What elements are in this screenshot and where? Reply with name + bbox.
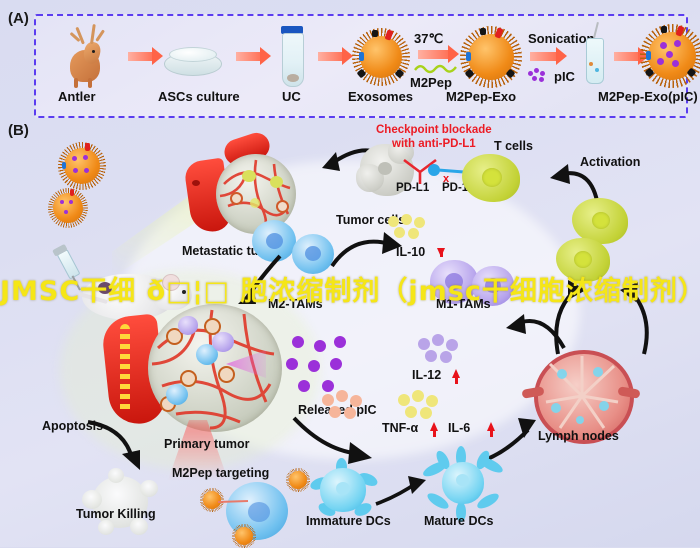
- il-6-cytokine-cluster: [398, 390, 442, 420]
- label-immature-dcs: Immature DCs: [306, 515, 391, 528]
- label-tnf-alpha: TNF-α: [382, 422, 418, 435]
- m2-tam-cell-2: [292, 234, 334, 274]
- t-cell-engaged: [462, 154, 520, 202]
- m2pep-exosome-particle: [460, 26, 522, 88]
- arrow-antler-to-ascs: [128, 52, 154, 61]
- label-m1-tams: M1-TAMs: [436, 298, 491, 311]
- antler-deer-illustration: [54, 24, 124, 86]
- panel-a-container: Antler ASCs culture UC Exosomes: [34, 14, 688, 118]
- lymph-node-internal-icon: [534, 350, 630, 440]
- arrow-m2pep-exo-to-sonication: [530, 52, 558, 61]
- label-il-12: IL-12: [412, 369, 441, 382]
- label-t-cells: T cells: [494, 140, 533, 153]
- arrow-exosome-to-m2pep-exo: [418, 50, 450, 59]
- membrane-protein-dark: [372, 30, 378, 37]
- label-m2pep-exo: M2Pep-Exo: [446, 90, 516, 103]
- label-pic: pIC: [554, 70, 575, 83]
- arrow-ascs-to-uc: [236, 52, 262, 61]
- label-uc: UC: [282, 90, 301, 103]
- label-apoptosis: Apoptosis: [42, 420, 103, 433]
- apoptotic-tumor-cell: [82, 468, 162, 538]
- arrow-primarytumor-to-m2tam: [232, 252, 288, 308]
- label-pd-l1: PD-L1: [396, 183, 429, 195]
- panel-a-tag: (A): [8, 10, 29, 27]
- label-tumor-killing: Tumor Killing: [76, 508, 156, 521]
- pic-dot-cluster: [528, 68, 552, 84]
- m2pep-squiggle-icon: [414, 62, 458, 74]
- il-12-cytokine-cluster: [418, 334, 462, 364]
- checkpoint-blockade-line1: Checkpoint blockade: [376, 125, 492, 137]
- label-ascs-culture: ASCs culture: [158, 90, 240, 103]
- m2pep-binding-link-icon: [216, 494, 252, 508]
- uc-centrifuge-tube: [280, 26, 306, 88]
- injected-nanoparticle-2: [48, 188, 88, 228]
- exosome-particle: [352, 28, 410, 86]
- arrow-lymph-to-tcells: [548, 280, 608, 358]
- label-il-6: IL-6: [448, 422, 470, 435]
- arrow-lymph-to-activation: [600, 280, 660, 358]
- injected-nanoparticle-1: [58, 142, 106, 190]
- label-antler: Antler: [58, 90, 96, 103]
- released-pic-cluster: [286, 336, 360, 398]
- figure-canvas: (A) Antler ASCs culture UC: [0, 0, 700, 547]
- il-10-down-arrow-icon: [437, 248, 445, 257]
- sonicator-tube: [584, 28, 606, 86]
- arrow-sonication-to-product: [614, 52, 640, 61]
- checkpoint-blockade-line2: with anti-PD-L1: [392, 139, 476, 151]
- label-primary-tumor: Primary tumor: [164, 438, 249, 451]
- il-12-up-arrow-icon: [452, 369, 460, 378]
- label-m2pep: M2Pep: [410, 76, 452, 89]
- m2pep-exo-pic-particle: [640, 24, 700, 88]
- arrow-uc-to-exosomes: [318, 52, 344, 61]
- m2pep-targeting-group: [186, 472, 316, 542]
- membrane-protein-blue: [359, 52, 364, 61]
- t-cell-resting-2: [556, 238, 610, 282]
- label-activation: Activation: [580, 156, 640, 169]
- label-exosomes: Exosomes: [348, 90, 413, 103]
- label-lymph-nodes: Lymph nodes: [538, 430, 619, 443]
- label-m2pep-exo-pic: M2Pep-Exo(pIC): [598, 90, 698, 103]
- mature-dc-cell: [422, 446, 504, 522]
- ascs-culture-dish: [162, 42, 228, 78]
- label-temperature: 37℃: [414, 32, 443, 45]
- tnf-alpha-up-arrow-icon: [430, 422, 438, 431]
- panel-b-container: Metastatic tumor Tumor cells Checkpoint …: [0, 120, 700, 547]
- label-mature-dcs: Mature DCs: [424, 515, 493, 528]
- arrow-m2-to-m1-polarization: [328, 230, 414, 278]
